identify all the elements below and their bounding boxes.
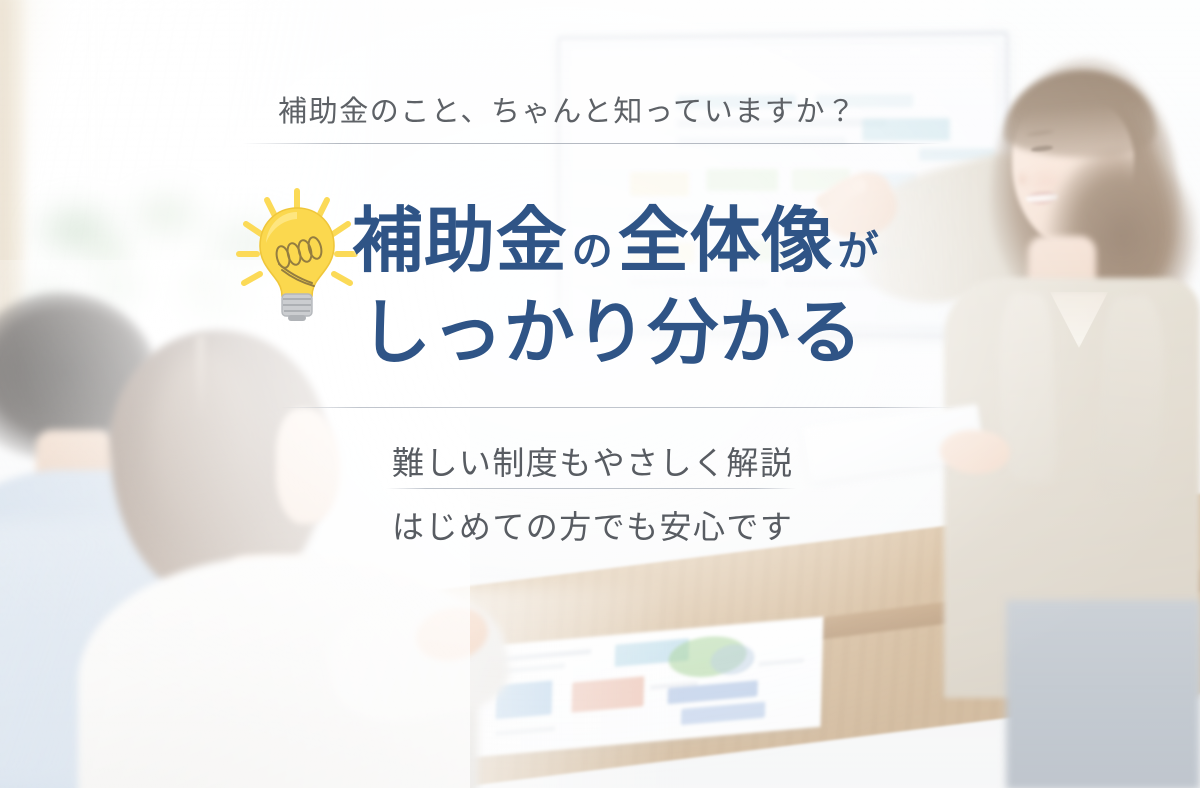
divider-bottom [386,488,796,489]
headline-line-1: 補助金の全体像が [352,196,884,288]
hero-banner: 補助金のこと、ちゃんと知っていますか？ [0,0,1200,788]
headline-particle-ga: が [833,228,883,274]
headline-seg-hojokin: 補助金 [352,202,568,281]
headline-particle-no: の [568,228,618,274]
eyebrow-text: 補助金のこと、ちゃんと知っていますか？ [278,94,857,130]
headline-seg-shikkari-wakaru: しっかり分かる [360,294,863,373]
subtitle-line-2: はじめての方でも安心です [392,502,793,548]
subtitle-line-1: 難しい制度もやさしく解説 [392,438,793,484]
divider-top [242,143,942,144]
headline-seg-zentaizo: 全体像 [618,202,834,281]
lightbulb-icon [236,186,358,322]
divider-middle [280,407,956,408]
hero-content: 補助金のこと、ちゃんと知っていますか？ [0,0,1200,788]
headline-line-2: しっかり分かる [360,288,884,380]
headline: 補助金の全体像が しっかり分かる [352,196,884,381]
